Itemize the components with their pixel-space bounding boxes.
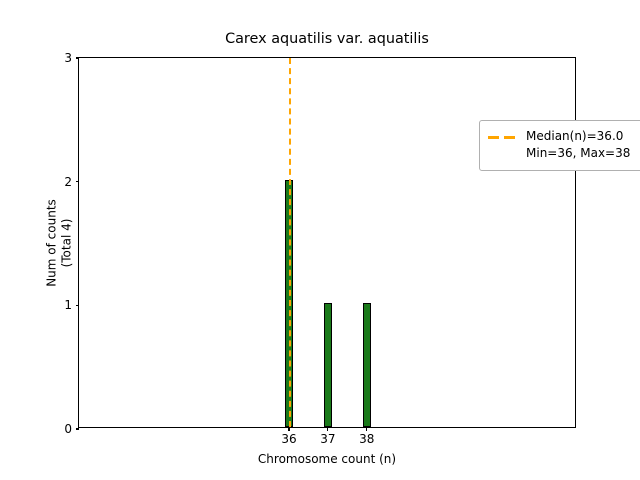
plot-inner: [79, 58, 575, 427]
xtick-label-37: 37: [320, 432, 335, 446]
figure-canvas: Carex aquatilis var. aquatilis 0 1 2 3: [0, 0, 640, 480]
bar-38: [363, 303, 371, 427]
y-axis-label: Num of counts (Total 4): [45, 58, 75, 429]
chart-title: Carex aquatilis var. aquatilis: [78, 31, 576, 48]
ytick-mark: [76, 305, 80, 306]
xtick-mark: [327, 427, 328, 431]
x-axis-label: Chromosome count (n): [78, 452, 576, 467]
xtick-mark: [366, 427, 367, 431]
median-line: [289, 58, 291, 427]
y-axis-label-line2: (Total 4): [60, 58, 75, 429]
legend-range-label: Min=36, Max=38: [526, 145, 630, 162]
legend: Median(n)=36.0 Min=36, Max=38: [479, 120, 640, 171]
plot-area: 0 1 2 3 36 37 38: [78, 57, 576, 428]
y-axis-label-line1: Num of counts: [45, 58, 60, 429]
legend-median-label: Median(n)=36.0: [526, 128, 630, 145]
xtick-label-36: 36: [281, 432, 296, 446]
ytick-mark: [76, 428, 80, 429]
ytick-mark: [76, 181, 80, 182]
ytick-mark: [76, 57, 80, 58]
legend-text: Median(n)=36.0 Min=36, Max=38: [526, 128, 630, 162]
dashed-line-icon: [488, 129, 518, 145]
legend-entry-median: Median(n)=36.0 Min=36, Max=38: [488, 128, 640, 162]
xtick-label-38: 38: [359, 432, 374, 446]
xtick-mark: [288, 427, 289, 431]
bar-37: [324, 303, 332, 427]
